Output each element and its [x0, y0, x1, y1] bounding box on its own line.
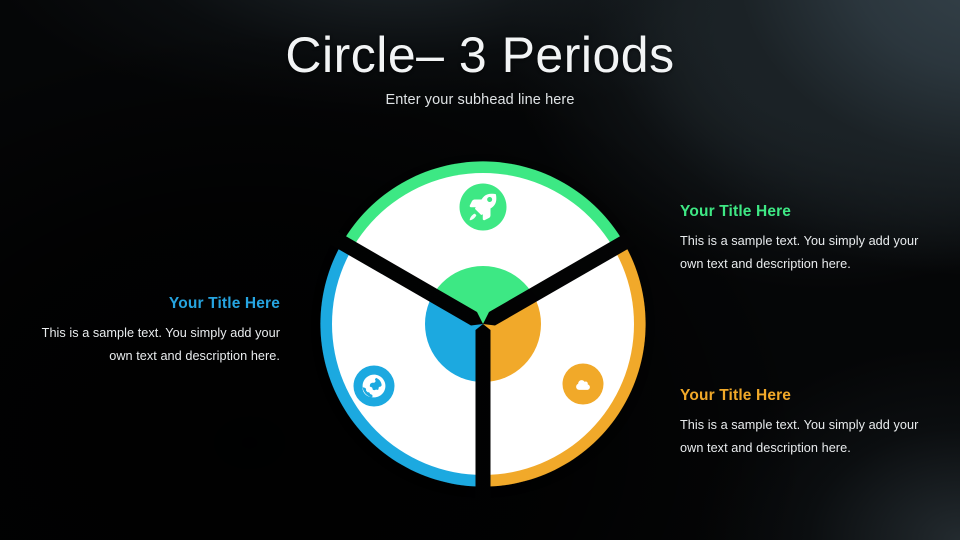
page-subhead: Enter your subhead line here: [0, 92, 960, 108]
text-block-blue-body: This is a sample text. You simply add yo…: [35, 322, 280, 368]
slide-canvas: Circle– 3 Periods Enter your subhead lin…: [0, 0, 960, 540]
text-block-orange: Your Title Here This is a sample text. Y…: [680, 387, 925, 460]
center-hub: [425, 266, 541, 382]
text-block-blue: Your Title Here This is a sample text. Y…: [35, 295, 280, 368]
text-block-green: Your Title Here This is a sample text. Y…: [680, 203, 925, 276]
text-block-green-title: Your Title Here: [680, 203, 925, 221]
icon-badge-orange[interactable]: [563, 364, 604, 405]
text-block-orange-body: This is a sample text. You simply add yo…: [680, 414, 925, 460]
icon-badge-green[interactable]: [460, 184, 507, 231]
icon-badge-blue[interactable]: [354, 366, 395, 407]
text-block-blue-title: Your Title Here: [35, 295, 280, 313]
text-block-orange-title: Your Title Here: [680, 387, 925, 405]
text-block-green-body: This is a sample text. You simply add yo…: [680, 230, 925, 276]
badge-circle-blue: [354, 366, 395, 407]
circle-diagram: [301, 142, 665, 506]
page-title: Circle– 3 Periods: [0, 29, 960, 82]
